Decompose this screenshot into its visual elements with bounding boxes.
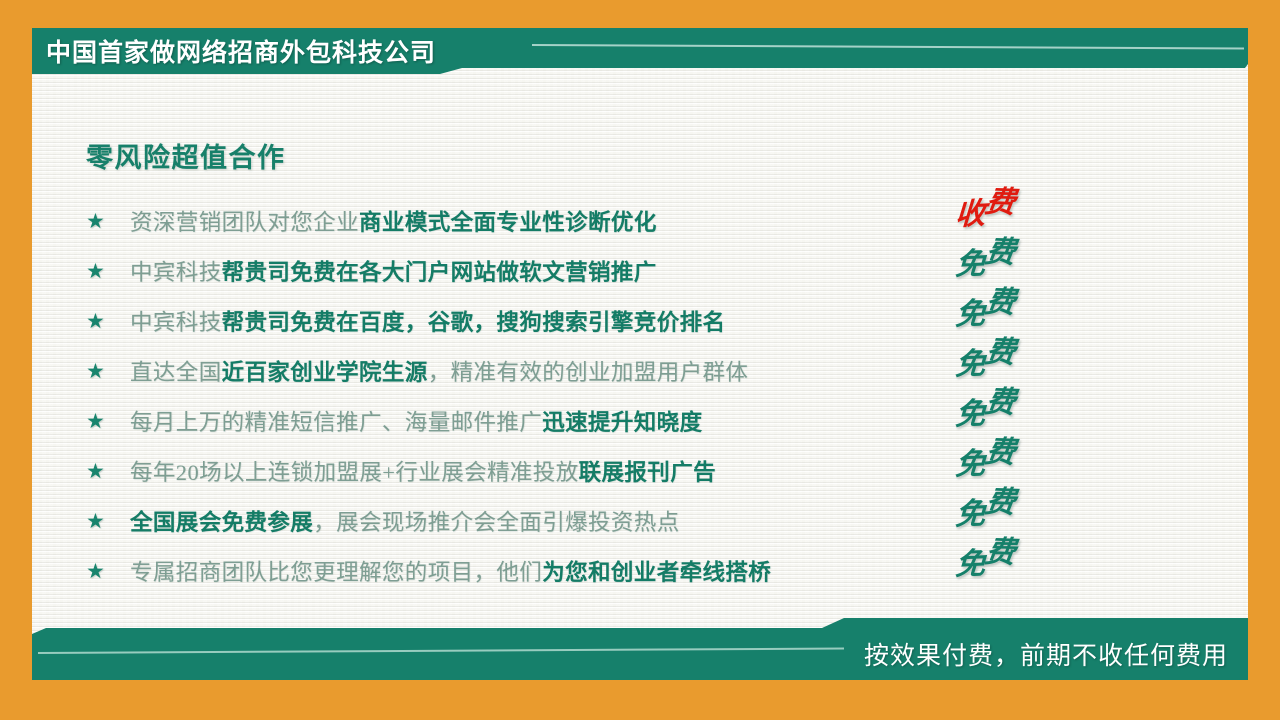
header-title: 中国首家做网络招商外包科技公司 bbox=[46, 28, 436, 74]
slide-root: 中国首家做网络招商外包科技公司 零风险超值合作 ★资深营销团队对您企业商业模式全… bbox=[0, 0, 1280, 720]
page-title: 零风险超值合作 bbox=[86, 136, 286, 175]
star-icon: ★ bbox=[86, 411, 130, 432]
list-item-text-emphasis: 近百家创业学院生源 bbox=[222, 360, 428, 385]
list-item-text-emphasis: 全国展会免费参展 bbox=[130, 510, 313, 535]
list-item-text-plain: 专属招商团队比您更理解您的项目，他们 bbox=[130, 560, 542, 585]
list-item-text-emphasis: 迅速提升知晓度 bbox=[542, 410, 702, 435]
list-item: ★中宾科技帮贵司免费在百度，谷歌，搜狗搜索引擎竞价排名 bbox=[86, 296, 1196, 346]
list-item-text-emphasis: 帮贵司免费在百度，谷歌，搜狗搜索引擎竞价排名 bbox=[222, 310, 726, 335]
list-item-text-plain: 直达全国 bbox=[130, 360, 222, 385]
list-item-text-plain: 每月上万的精准短信推广、海量邮件推广 bbox=[130, 410, 542, 435]
list-item-text: 资深营销团队对您企业商业模式全面专业性诊断优化 bbox=[130, 205, 1196, 237]
list-item: ★专属招商团队比您更理解您的项目，他们为您和创业者牵线搭桥 bbox=[86, 546, 1196, 596]
list-item-text-plain: 每年20场以上连锁加盟展+行业展会精准投放 bbox=[130, 460, 579, 485]
list-item: ★直达全国近百家创业学院生源，精准有效的创业加盟用户群体 bbox=[86, 346, 1196, 396]
list-item-text: 每月上万的精准短信推广、海量邮件推广迅速提升知晓度 bbox=[130, 405, 1196, 437]
list-item-text: 专属招商团队比您更理解您的项目，他们为您和创业者牵线搭桥 bbox=[130, 555, 1196, 587]
star-icon: ★ bbox=[86, 511, 130, 532]
list-item: ★每年20场以上连锁加盟展+行业展会精准投放联展报刊广告 bbox=[86, 446, 1196, 496]
list-item-text-plain: 资深营销团队对您企业 bbox=[130, 210, 359, 235]
list-item: ★每月上万的精准短信推广、海量邮件推广迅速提升知晓度 bbox=[86, 396, 1196, 446]
star-icon: ★ bbox=[86, 311, 130, 332]
list-item-text: 全国展会免费参展，展会现场推介会全面引爆投资热点 bbox=[130, 505, 1196, 537]
list-item-text-plain-tail: ，展会现场推介会全面引爆投资热点 bbox=[313, 510, 679, 535]
star-icon: ★ bbox=[86, 361, 130, 382]
list-item-text-plain: 中宾科技 bbox=[130, 260, 222, 285]
footer-hairline-decoration bbox=[38, 647, 844, 654]
star-icon: ★ bbox=[86, 561, 130, 582]
list-item-text-plain-tail: ，精准有效的创业加盟用户群体 bbox=[428, 360, 749, 385]
list-item-text-emphasis: 为您和创业者牵线搭桥 bbox=[542, 560, 771, 585]
list-item-text-emphasis: 商业模式全面专业性诊断优化 bbox=[359, 210, 657, 235]
list-item: ★全国展会免费参展，展会现场推介会全面引爆投资热点 bbox=[86, 496, 1196, 546]
star-icon: ★ bbox=[86, 261, 130, 282]
list-item-text-plain: 中宾科技 bbox=[130, 310, 222, 335]
list-item-text: 直达全国近百家创业学院生源，精准有效的创业加盟用户群体 bbox=[130, 355, 1196, 387]
list-item: ★资深营销团队对您企业商业模式全面专业性诊断优化 bbox=[86, 196, 1196, 246]
footer-slogan: 按效果付费，前期不收任何费用 bbox=[864, 628, 1228, 680]
star-icon: ★ bbox=[86, 461, 130, 482]
list-item-text: 中宾科技帮贵司免费在百度，谷歌，搜狗搜索引擎竞价排名 bbox=[130, 305, 1196, 337]
list-item-text: 每年20场以上连锁加盟展+行业展会精准投放联展报刊广告 bbox=[130, 455, 1196, 487]
paper-panel: 中国首家做网络招商外包科技公司 零风险超值合作 ★资深营销团队对您企业商业模式全… bbox=[32, 28, 1248, 680]
list-item-text-emphasis: 联展报刊广告 bbox=[579, 460, 716, 485]
list-item: ★中宾科技帮贵司免费在各大门户网站做软文营销推广 bbox=[86, 246, 1196, 296]
list-item-text-emphasis: 帮贵司免费在各大门户网站做软文营销推广 bbox=[222, 260, 657, 285]
benefit-list: ★资深营销团队对您企业商业模式全面专业性诊断优化★中宾科技帮贵司免费在各大门户网… bbox=[86, 196, 1196, 596]
star-icon: ★ bbox=[86, 211, 130, 232]
list-item-text: 中宾科技帮贵司免费在各大门户网站做软文营销推广 bbox=[130, 255, 1196, 287]
